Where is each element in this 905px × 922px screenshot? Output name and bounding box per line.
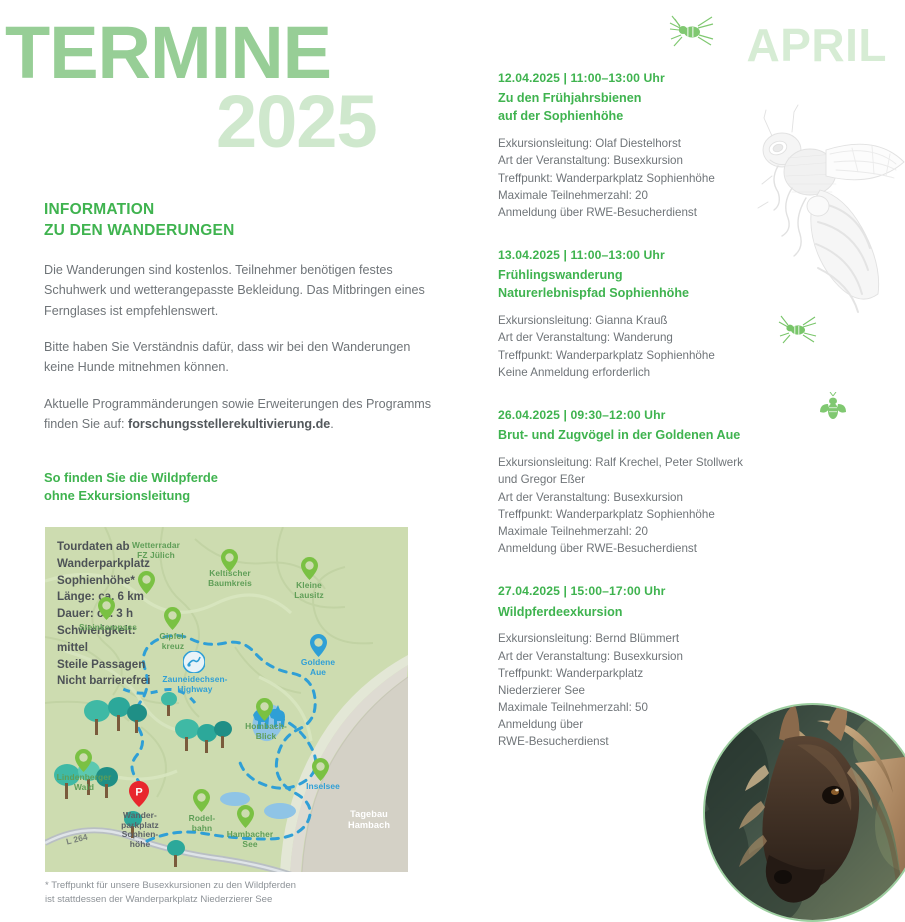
map-label-zauneidechsen-highway: Zauneidechsen- Highway xyxy=(152,675,238,694)
map-footnote-line2: ist stattdessen der Wanderparkplatz Nied… xyxy=(45,893,425,907)
event-detail: Exkursionsleitung: Bernd Blümmert xyxy=(498,630,828,647)
event-title: Zu den Frühjahrsbienen auf der Sophienhö… xyxy=(498,90,828,126)
event-detail: Treffpunkt: Wanderparkplatz xyxy=(498,665,828,682)
map-pin-hambacher-see[interactable] xyxy=(237,805,254,828)
map-pin-goldene-aue[interactable] xyxy=(310,634,327,657)
label-line-4: höhe xyxy=(107,840,173,850)
label-line-2: Aue xyxy=(288,668,348,678)
map-label-tagebau-hambach: Tagebau Hambach xyxy=(335,809,403,830)
map-pin-inselsee[interactable] xyxy=(312,758,329,781)
event-date: 27.04.2025 | 15:00–17:00 Uhr xyxy=(498,583,828,599)
information-heading-line2: ZU DEN WANDERUNGEN xyxy=(44,221,434,242)
event-detail: Exkursionsleitung: Ralf Krechel, Peter S… xyxy=(498,454,828,471)
event-detail: Anmeldung über RWE-Besucherdienst xyxy=(498,540,828,557)
wild-horse-photo xyxy=(703,703,905,922)
event-title: Brut- und Zugvögel in der Goldenen Aue xyxy=(498,427,828,445)
label-line-2: See xyxy=(212,840,288,850)
event-title-line1: Frühlingswanderung xyxy=(498,267,828,285)
information-paragraph-3: Aktuelle Programmänderungen sowie Erweit… xyxy=(44,394,434,435)
event-detail: Keine Anmeldung erforderlich xyxy=(498,364,828,381)
tour-map[interactable]: Tourdaten ab Wanderparkplatz Sophienhöhe… xyxy=(45,527,408,872)
event-detail: Exkursionsleitung: Olaf Diestelhorst xyxy=(498,135,828,152)
map-pin-parking-wanderparkplatz[interactable]: P xyxy=(129,781,149,807)
map-pin-kleine-lausitz[interactable] xyxy=(301,557,318,580)
label-line-1: Tagebau xyxy=(335,809,403,820)
tour-data-6: mittel xyxy=(57,640,150,657)
event-title-line2: auf der Sophienhöhe xyxy=(498,108,828,126)
label-line-2: Baumkreis xyxy=(190,579,270,589)
event-title-line1: Zu den Frühjahrsbienen xyxy=(498,90,828,108)
page-title-year: 2025 xyxy=(216,85,377,159)
wildhorse-heading-line1: So finden Sie die Wildpferde xyxy=(44,469,434,487)
event-title-line1: Wildpferdeexkursion xyxy=(498,604,828,622)
event-item-2[interactable]: 13.04.2025 | 11:00–13:00 Uhr Frühlingswa… xyxy=(498,247,828,381)
website-link[interactable]: forschungsstellerekultivierung.de xyxy=(128,417,330,431)
label-line-1: Steinkompass xyxy=(68,623,148,633)
map-pin-lindenberger-wald[interactable] xyxy=(75,749,92,772)
information-heading-line1: INFORMATION xyxy=(44,200,434,221)
event-detail: Treffpunkt: Wanderparkplatz Sophienhöhe xyxy=(498,170,828,187)
event-date: 12.04.2025 | 11:00–13:00 Uhr xyxy=(498,70,828,86)
tour-data-7: Steile Passagen xyxy=(57,657,150,674)
map-label-hombach-blick: Hombach- Blick xyxy=(235,722,297,741)
tour-data-2: Sophienhöhe* xyxy=(57,573,150,590)
label-line-2: FZ Jülich xyxy=(111,551,201,561)
map-label-keltischer-baumkreis: Keltischer Baumkreis xyxy=(190,569,270,588)
map-label-hambacher-see: Hambacher See xyxy=(212,830,288,849)
label-line-2: Wald xyxy=(46,783,122,793)
event-details: Exkursionsleitung: Olaf Diestelhorst Art… xyxy=(498,135,828,221)
map-label-wanderparkplatz: Wander- parkplatz Sophien- höhe xyxy=(107,811,173,850)
map-label-inselsee: Inselsee xyxy=(295,782,351,792)
map-label-wetterradar: Wetterradar FZ Jülich xyxy=(111,541,201,560)
tour-data-8: Nicht barrierefrei xyxy=(57,673,150,690)
masthead: TERMINE 2025 xyxy=(0,0,460,175)
event-detail: und Gregor Eßer xyxy=(498,471,828,488)
information-column: INFORMATION ZU DEN WANDERUNGEN Die Wande… xyxy=(44,200,434,505)
event-detail: Maximale Teilnehmerzahl: 20 xyxy=(498,523,828,540)
event-date: 26.04.2025 | 09:30–12:00 Uhr xyxy=(498,407,828,423)
green-bee-icon-top xyxy=(668,8,716,52)
label-line-2: Hambach xyxy=(335,820,403,831)
map-pin-wetterradar[interactable] xyxy=(138,571,155,594)
event-detail: Exkursionsleitung: Gianna Krauß xyxy=(498,312,828,329)
events-list: 12.04.2025 | 11:00–13:00 Uhr Zu den Früh… xyxy=(498,70,828,777)
map-footnote: * Treffpunkt für unsere Busexkursionen z… xyxy=(45,879,425,907)
map-pin-gipfelkreuz[interactable] xyxy=(164,607,181,630)
event-detail: Niederzierer See xyxy=(498,682,828,699)
map-label-gipfelkreuz: Gipfel- kreuz xyxy=(146,632,200,651)
poster-page: TERMINE 2025 APRIL xyxy=(0,0,905,919)
map-label-goldene-aue: Goldene Aue xyxy=(288,658,348,677)
map-label-kleine-lausitz: Kleine Lausitz xyxy=(276,581,342,600)
map-pin-steinkompass[interactable] xyxy=(98,597,115,620)
event-detail: Treffpunkt: Wanderparkplatz Sophienhöhe xyxy=(498,347,828,364)
information-paragraph-1: Die Wanderungen sind kostenlos. Teilnehm… xyxy=(44,260,434,321)
svg-text:P: P xyxy=(135,787,142,799)
event-detail: Art der Veranstaltung: Busexkursion xyxy=(498,152,828,169)
event-date: 13.04.2025 | 11:00–13:00 Uhr xyxy=(498,247,828,263)
information-heading: INFORMATION ZU DEN WANDERUNGEN xyxy=(44,200,434,242)
label-line-1: Inselsee xyxy=(295,782,351,792)
label-line-2: Lausitz xyxy=(276,591,342,601)
map-pin-hombach-blick[interactable] xyxy=(256,698,273,721)
wildhorse-heading: So finden Sie die Wildpferde ohne Exkurs… xyxy=(44,469,434,505)
event-title-line2: Naturerlebnispfad Sophienhöhe xyxy=(498,285,828,303)
event-details: Exkursionsleitung: Gianna Krauß Art der … xyxy=(498,312,828,381)
label-line-2: Highway xyxy=(152,685,238,695)
map-pin-zauneidechsen-highway[interactable] xyxy=(183,651,205,673)
event-detail: Maximale Teilnehmerzahl: 20 xyxy=(498,187,828,204)
event-title: Wildpferdeexkursion xyxy=(498,604,828,622)
map-label-steinkompass: Steinkompass xyxy=(68,623,148,633)
map-footnote-line1: * Treffpunkt für unsere Busexkursionen z… xyxy=(45,879,425,893)
paragraph-3-tail: . xyxy=(330,417,334,431)
event-details: Exkursionsleitung: Ralf Krechel, Peter S… xyxy=(498,454,828,557)
event-detail: Art der Veranstaltung: Wanderung xyxy=(498,329,828,346)
event-detail: Art der Veranstaltung: Busexkursion xyxy=(498,489,828,506)
event-title: Frühlingswanderung Naturerlebnispfad Sop… xyxy=(498,267,828,303)
label-line-2: kreuz xyxy=(146,642,200,652)
wildhorse-heading-line2: ohne Exkursionsleitung xyxy=(44,487,434,505)
event-detail: Anmeldung über RWE-Besucherdienst xyxy=(498,204,828,221)
page-title: TERMINE xyxy=(5,16,331,90)
label-line-2: Blick xyxy=(235,732,297,742)
event-item-3[interactable]: 26.04.2025 | 09:30–12:00 Uhr Brut- und Z… xyxy=(498,407,828,557)
event-detail: Art der Veranstaltung: Busexkursion xyxy=(498,648,828,665)
month-label: APRIL xyxy=(747,22,888,68)
map-label-lindenberger-wald: Lindenberger Wald xyxy=(46,773,122,792)
event-item-1[interactable]: 12.04.2025 | 11:00–13:00 Uhr Zu den Früh… xyxy=(498,70,828,221)
event-title-line1: Brut- und Zugvögel in der Goldenen Aue xyxy=(498,427,828,445)
event-detail: Treffpunkt: Wanderparkplatz Sophienhöhe xyxy=(498,506,828,523)
map-pin-rodelbahn[interactable] xyxy=(193,789,210,812)
information-paragraph-2: Bitte haben Sie Verständnis dafür, dass … xyxy=(44,337,434,378)
